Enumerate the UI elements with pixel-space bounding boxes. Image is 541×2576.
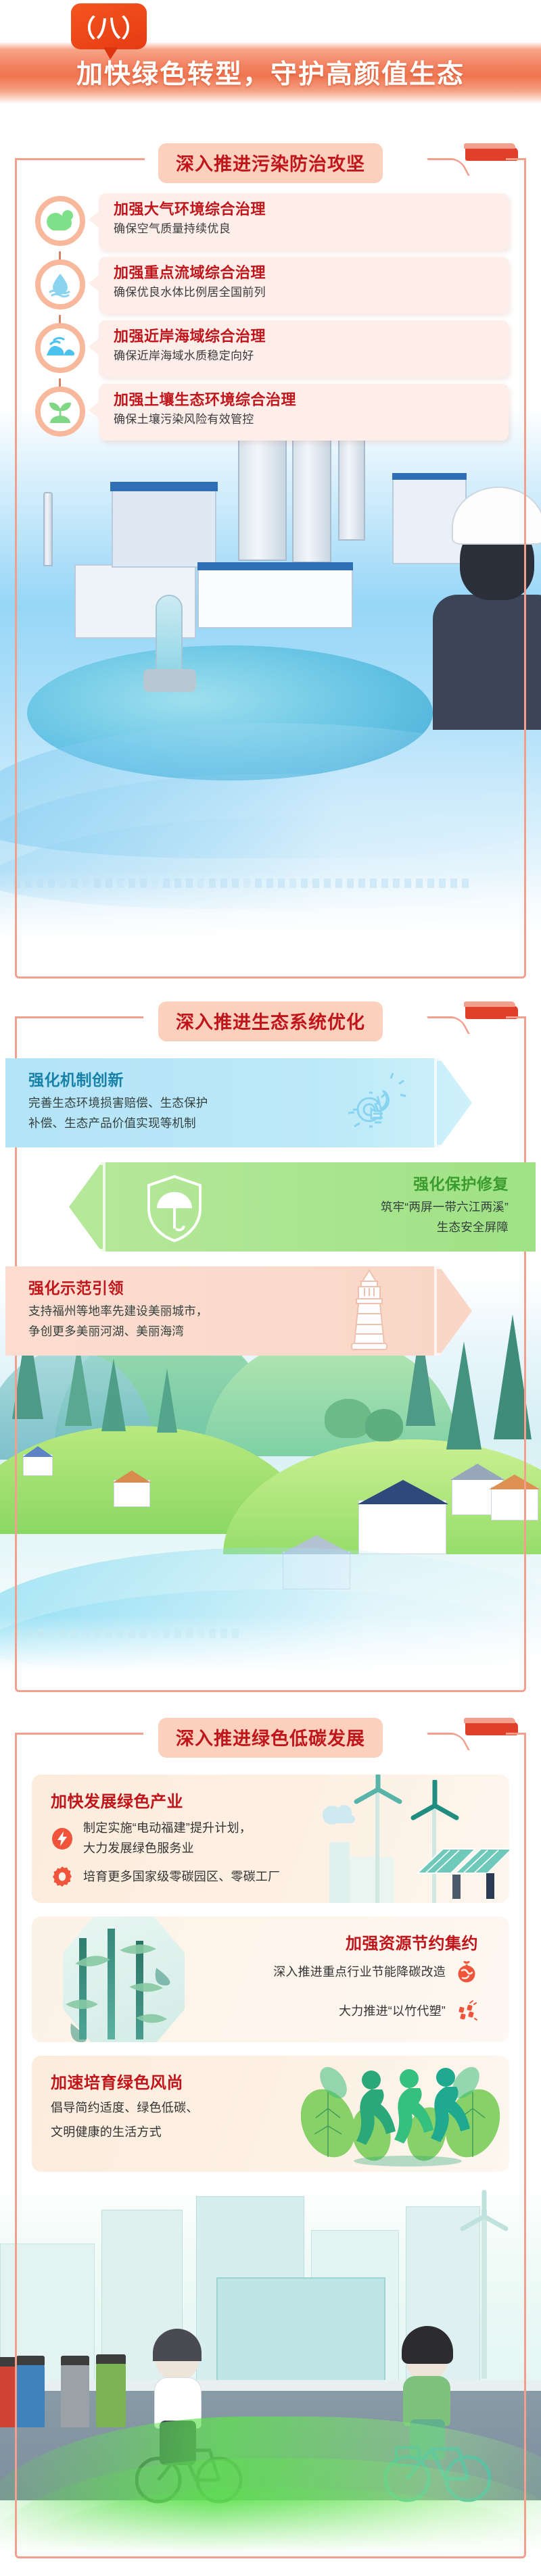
bullet-line-2: 大力发展绿色服务业 [83, 1839, 252, 1859]
gear-icon [51, 1865, 74, 1888]
lowcarbon-item-list: 加快发展绿色产业 制定实施“电动福建”提升计划， 大力发展绿色服务业 [0, 1710, 541, 2172]
list-item[interactable]: 加强近岸海域综合治理 确保近岸海域水质稳定向好 [0, 320, 541, 377]
list-item[interactable]: 加强重点流域综合治理 确保优良水体比例居全国前列 [0, 257, 541, 314]
list-item[interactable]: 加强土壤生态环境综合治理 确保土壤污染风险有效管控 [0, 384, 541, 441]
section-number-badge: （八） [71, 3, 147, 49]
bullet-line-1: 培育更多国家级零碳园区、零碳工厂 [83, 1867, 280, 1887]
illustration-industrial-plant [0, 405, 541, 993]
section-pollution: 深入推进污染防治攻坚 加强大气环境综合治理 确保空气质量持续优良 [0, 135, 541, 993]
list-item[interactable]: 强化保护修复 筑牢“两屏一带六江两溪” 生态安全屏障 [69, 1162, 536, 1252]
item-title: 加强近岸海域综合治理 [114, 325, 499, 347]
bamboo-icon [455, 2000, 478, 2023]
earth-recycle-icon [455, 1960, 478, 1983]
item-bullet: 制定实施“电动福建”提升计划， 大力发展绿色服务业 [51, 1818, 492, 1858]
item-card: 加强重点流域综合治理 确保优良水体比例居全国前列 [99, 257, 509, 314]
item-description: 确保空气质量持续优良 [114, 220, 499, 238]
shield-umbrella-icon [143, 1173, 206, 1247]
page-header: （八） 加快绿色转型，守护高颜值生态 [0, 0, 541, 135]
bullet-line-1: 大力推进“以竹代塑” [339, 2002, 446, 2022]
item-description: 确保优良水体比例居全国前列 [114, 284, 499, 301]
page-title: 加快绿色转型，守护高颜值生态 [0, 47, 541, 97]
item-title: 加强大气环境综合治理 [114, 198, 499, 220]
item-title: 加强土壤生态环境综合治理 [114, 389, 499, 411]
list-item[interactable]: 强化机制创新 完善生态环境损害赔偿、生态保护 补偿、生态产品价值实现等机制 [5, 1058, 472, 1147]
list-item[interactable]: 强化示范引领 支持福州等地率先建设美丽城市， 争创更多美丽河湖、美丽海湾 [5, 1266, 472, 1356]
item-description: 确保土壤污染风险有效管控 [114, 411, 499, 428]
item-card: 加强大气环境综合治理 确保空气质量持续优良 [99, 193, 509, 250]
section-ecosystem: 深入推进生态系统优化 强化机制创新 完善生态环境损害赔偿、生态保护 补偿、生态产… [0, 993, 541, 1710]
section-number-text: （八） [71, 9, 146, 44]
section-heading-lowcarbon: 深入推进绿色低碳发展 [158, 1718, 383, 1758]
item-bullet: 培育更多国家级零碳园区、零碳工厂 [51, 1865, 492, 1888]
item-title: 加强重点流域综合治理 [114, 262, 499, 284]
bullet-line-1: 深入推进重点行业节能降碳改造 [273, 1962, 446, 1983]
lightbulb-gear-icon [342, 1070, 407, 1141]
section-heading-pollution: 深入推进污染防治攻坚 [158, 143, 383, 183]
lighthouse-icon [342, 1268, 396, 1359]
item-card: 加强土壤生态环境综合治理 确保土壤污染风险有效管控 [99, 384, 509, 441]
ecosystem-item-list: 强化机制创新 完善生态环境损害赔偿、生态保护 补偿、生态产品价值实现等机制 [0, 993, 541, 1356]
runners-with-green-leaves-illustration [301, 2058, 504, 2172]
sprout-icon [35, 387, 85, 437]
item-card: 加强近岸海域综合治理 确保近岸海域水质稳定向好 [99, 320, 509, 377]
item-bullet: 大力推进“以竹代塑” [51, 2000, 478, 2023]
section-lowcarbon: 深入推进绿色低碳发展 [0, 1710, 541, 2576]
item-bullet: 深入推进重点行业节能降碳改造 [51, 1960, 478, 1983]
section-heading-ecosystem: 深入推进生态系统优化 [158, 1001, 383, 1041]
bullet-line-1: 制定实施“电动福建”提升计划， [83, 1818, 252, 1839]
infographic-page: （八） 加快绿色转型，守护高颜值生态 [0, 0, 541, 2576]
lightning-bolt-icon [51, 1827, 74, 1850]
list-item[interactable]: 加速培育绿色风尚 倡导简约适度、绿色低碳、 文明健康的生活方式 [32, 2056, 509, 2172]
cloud-icon [35, 196, 85, 246]
list-item[interactable]: 加强大气环境综合治理 确保空气质量持续优良 [0, 193, 541, 250]
illustration-city-cyclists [0, 2183, 541, 2576]
water-drop-icon [35, 259, 85, 309]
item-description: 确保近岸海域水质稳定向好 [114, 347, 499, 365]
ocean-wave-icon [35, 323, 85, 373]
list-item[interactable]: 加强资源节约集约 深入推进重点行业节能降碳改造 大力推进“以 [32, 1916, 509, 2042]
list-item[interactable]: 加快发展绿色产业 制定实施“电动福建”提升计划， 大力发展绿色服务业 [32, 1775, 509, 1903]
